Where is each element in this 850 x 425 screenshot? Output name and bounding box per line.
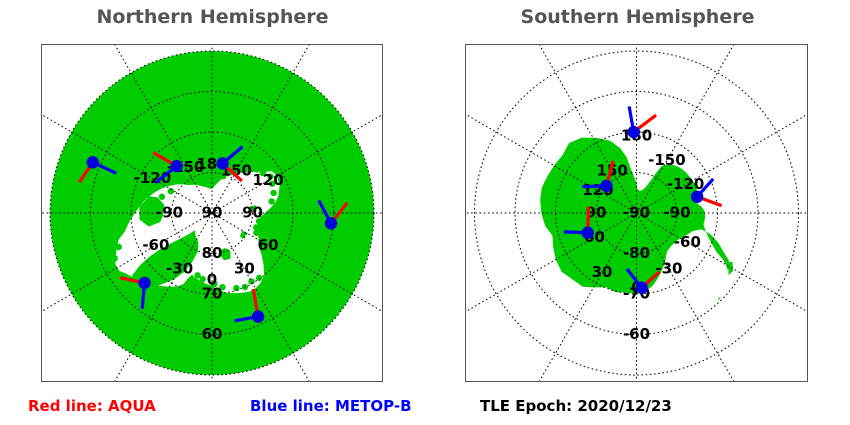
lon-label--60: -60 <box>674 233 701 251</box>
lon-label-60: 60 <box>258 236 279 254</box>
lon-label--90: -90 <box>663 204 690 222</box>
satellite-dot-icon[interactable] <box>170 160 182 172</box>
page-title-northern: Northern Hemisphere <box>0 6 425 28</box>
lon-label-90: 90 <box>242 204 263 222</box>
polar-plot-northern[interactable]: 0306090120150180-150-120-90-60-309080706… <box>41 44 383 382</box>
lon-label--90: -90 <box>156 204 183 222</box>
lon-label--120: -120 <box>667 175 705 193</box>
lon-label--60: -60 <box>142 236 169 254</box>
satellite-dot-icon[interactable] <box>252 310 264 322</box>
page-title-southern: Southern Hemisphere <box>425 6 850 28</box>
lat-ring-label-70: 70 <box>202 285 223 303</box>
lat-ring-label--60: -60 <box>623 325 650 343</box>
southern-hemisphere-panel: Southern Hemisphere 0306090120150180-150… <box>425 0 850 425</box>
lat-ring-label-80: 80 <box>202 244 223 262</box>
satellite-dot-icon[interactable] <box>138 277 150 289</box>
satellite-dot-icon[interactable] <box>581 227 593 239</box>
satellite-dot-icon[interactable] <box>636 282 648 294</box>
legend-blue-metopb: Blue line: METOP-B <box>250 397 412 415</box>
satellite-dot-icon[interactable] <box>691 191 703 203</box>
polar-plot-southern[interactable]: 0306090120150180-150-120-90-60-30-90-80-… <box>465 44 808 382</box>
lon-label--30: -30 <box>655 260 682 278</box>
satellite-dot-icon[interactable] <box>600 180 612 192</box>
lat-ring-label--90: -90 <box>623 204 650 222</box>
lon-label--120: -120 <box>134 169 172 187</box>
lat-ring-label-60: 60 <box>202 325 223 343</box>
lon-label--150: -150 <box>648 151 686 169</box>
lat-ring-label--80: -80 <box>623 244 650 262</box>
lon-label-30: 30 <box>592 263 613 281</box>
satellite-dot-icon[interactable] <box>325 217 337 229</box>
northern-hemisphere-panel: Northern Hemisphere 0306090120150180-150… <box>0 0 425 425</box>
lon-label--30: -30 <box>166 260 193 278</box>
lon-label-120: 120 <box>252 171 283 189</box>
satellite-dot-icon[interactable] <box>627 126 639 138</box>
lat-ring-label-90: 90 <box>202 204 223 222</box>
legend-red-aqua: Red line: AQUA <box>28 397 156 415</box>
tle-epoch-label: TLE Epoch: 2020/12/23 <box>480 397 672 415</box>
satellite-dot-icon[interactable] <box>87 156 99 168</box>
lon-label-30: 30 <box>234 260 255 278</box>
satellite-dot-icon[interactable] <box>216 157 228 169</box>
